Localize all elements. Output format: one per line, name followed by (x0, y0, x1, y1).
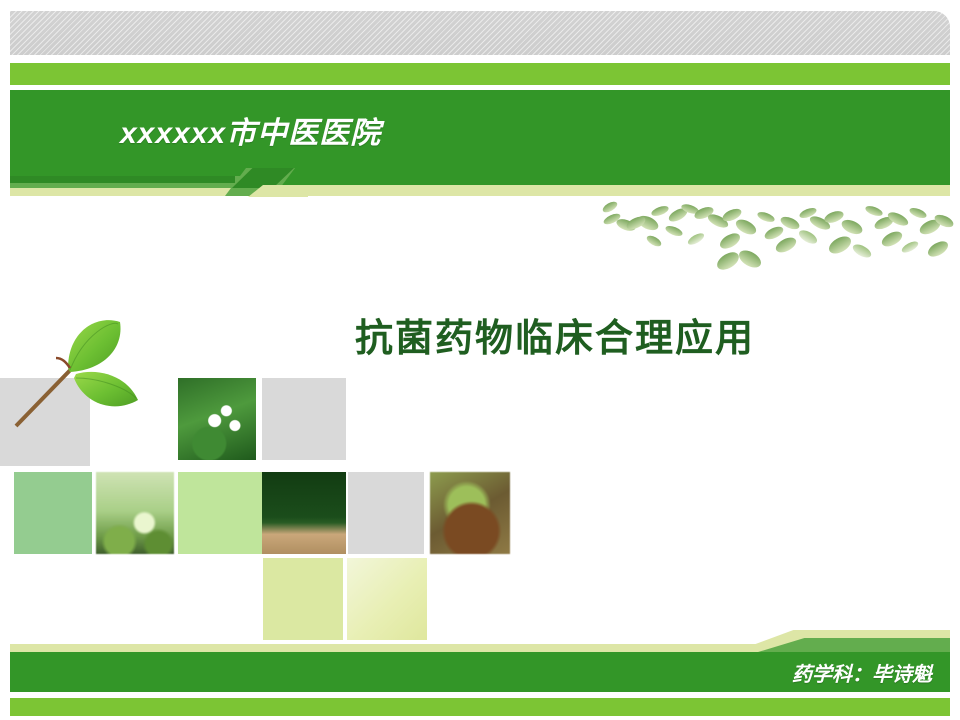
presenter-label: 药学科：毕诗魁 (792, 658, 932, 687)
photo-seedlings (262, 472, 346, 554)
banner-ribbon-dark (10, 176, 235, 183)
hanging-vine-leaves-icon (600, 193, 960, 291)
page-title: 抗菌药物临床合理应用 (355, 307, 755, 362)
photo-bud-closeup (179, 558, 259, 640)
top-gray-bar (10, 11, 950, 55)
photo-leaf-pair (347, 558, 427, 640)
photo-solid-green (14, 472, 92, 554)
slide-canvas: xxxxxx市中医医院 (0, 0, 960, 720)
green-leaf-branch-icon (8, 308, 168, 428)
photo-solid-light-green (178, 472, 262, 554)
photo-placeholder-grey-2 (348, 472, 424, 554)
photo-white-flowers (178, 378, 256, 460)
photo-placeholder-grey (262, 378, 346, 460)
top-lime-bar (10, 63, 950, 85)
organization-title: xxxxxx市中医医院 (120, 108, 381, 152)
footer-lime-bar (10, 698, 950, 716)
photo-sprout-soil (430, 472, 510, 554)
photo-moss-sprout (96, 472, 174, 554)
photo-solid-pale (263, 558, 343, 640)
